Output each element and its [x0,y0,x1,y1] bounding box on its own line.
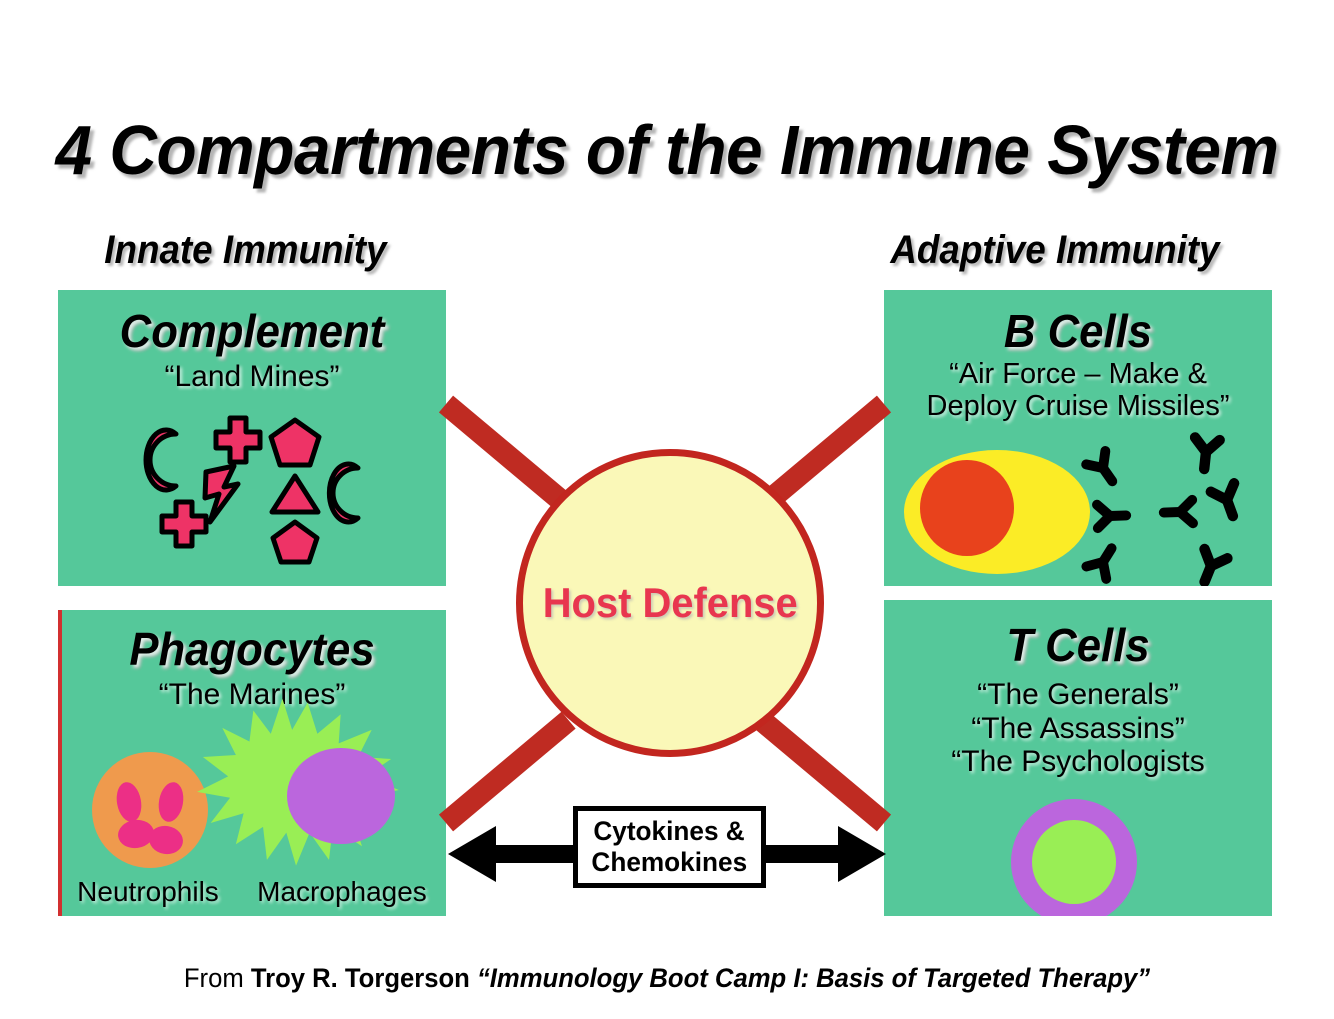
cytokines-line2: Chemokines [592,847,748,878]
cytokines-line1: Cytokines & [594,816,745,847]
column-header-adaptive: Adaptive Immunity [890,228,1219,273]
tcell-illustration [884,600,1272,916]
crescent-icon [329,464,358,522]
column-header-innate: Innate Immunity [104,228,386,273]
phagocyte-illustration [58,610,446,916]
connector-top-left [439,396,576,516]
lightning-bolt-icon [205,466,238,522]
page-title: 4 Compartments of the Immune System [40,110,1294,190]
neutrophil-icon [92,752,208,868]
footer-prefix: From [184,963,251,993]
antibody-icon [1097,504,1127,528]
panel-bcells[interactable]: B Cells “Air Force – Make & Deploy Cruis… [884,290,1272,586]
diagram-canvas: 4 Compartments of the Immune System Inna… [0,0,1334,1019]
bcell-nucleus-icon [920,460,1014,556]
tcell-nucleus-icon [1032,820,1116,904]
antibody-group [1086,437,1244,586]
cross-icon [162,502,206,546]
panel-complement[interactable]: Complement “Land Mines” [58,290,446,586]
antibody-icon [1192,437,1220,470]
phagocyte-captions: Neutrophils Macrophages [58,876,446,908]
pentagon-icon [271,420,319,465]
host-defense-node[interactable]: Host Defense [516,449,824,757]
triangle-icon [272,476,318,512]
panel-tcells[interactable]: T Cells “The Generals” “The Assassins” “… [884,600,1272,916]
antibody-icon [1211,483,1245,520]
footer-work-title: “Immunology Boot Camp I: Basis of Target… [470,963,1150,993]
caption-macrophages: Macrophages [257,876,427,908]
pentagon-icon [273,522,317,562]
complement-icon-group [58,290,446,586]
host-defense-label: Host Defense [543,579,798,627]
cytokines-label-box[interactable]: Cytokines & Chemokines [573,806,766,888]
antibody-icon [1086,451,1122,488]
crescent-icon [146,430,176,490]
antibody-icon [1193,549,1227,586]
caption-neutrophils: Neutrophils [77,876,219,908]
attribution-footer: From Troy R. Torgerson “Immunology Boot … [33,963,1300,994]
cross-icon [216,418,260,462]
antibody-icon [1163,500,1193,524]
antibody-icon [1086,542,1121,579]
macrophage-nucleus-icon [287,748,395,844]
panel-phagocytes[interactable]: Phagocytes “The Marines” Neutrophils Mac… [58,610,446,916]
footer-author: Troy R. Torgerson [251,963,470,993]
bcell-illustration [884,290,1272,586]
